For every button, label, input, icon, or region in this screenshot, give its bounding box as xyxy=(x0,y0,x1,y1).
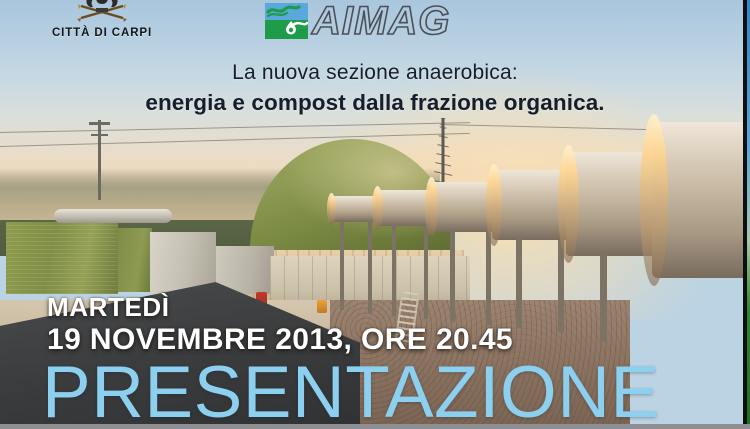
event-day: MARTEDÌ xyxy=(47,293,513,321)
city-crest-icon xyxy=(71,0,133,26)
headline-line-1: La nuova sezione anaerobica: xyxy=(0,60,750,86)
headline: La nuova sezione anaerobica: energia e c… xyxy=(0,60,750,118)
carpi-logo-label: CITTÀ DI CARPI xyxy=(44,27,160,39)
aimag-logo-icon xyxy=(265,3,308,39)
invitation-slide: CITTÀ DI CARPI AIMAG La nuova sezione an… xyxy=(0,0,750,429)
event-date-block: MARTEDÌ 19 NOVEMBRE 2013, ORE 20.45 xyxy=(47,293,513,356)
aimag-wordmark: AIMAG xyxy=(312,1,450,41)
carpi-logo: CITTÀ DI CARPI xyxy=(44,0,160,39)
headline-line-2: energia e compost dalla frazione organic… xyxy=(0,88,750,117)
event-title: PRESENTAZIONE xyxy=(42,356,660,429)
aimag-logo: AIMAG xyxy=(265,1,450,41)
bottom-bar xyxy=(0,424,750,429)
